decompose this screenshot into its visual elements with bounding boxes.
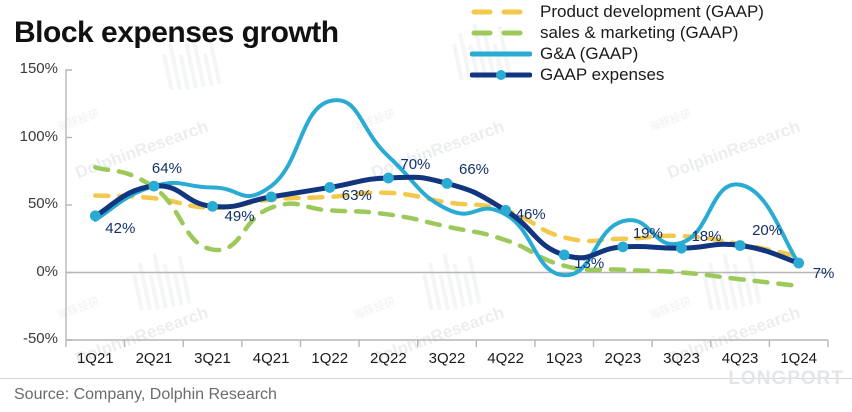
x-axis-tick-label: 4Q21: [239, 350, 303, 367]
data-point-label: 64%: [152, 160, 182, 177]
data-point-label: 49%: [225, 208, 255, 225]
y-axis-tick-label: 100%: [2, 128, 58, 145]
data-point-label: 46%: [516, 206, 546, 223]
data-point-label: 13%: [574, 255, 604, 272]
x-axis-tick-label: 3Q21: [181, 350, 245, 367]
x-axis-tick-label: 2Q21: [122, 350, 186, 367]
y-axis-tick-label: 50%: [2, 195, 58, 212]
x-axis-tick-label: 4Q23: [708, 350, 772, 367]
x-axis-tick-label: 4Q22: [474, 350, 538, 367]
x-axis-tick-label: 1Q24: [767, 350, 831, 367]
data-point-label: 19%: [633, 225, 663, 242]
chart-container: 海豚投研 DolphinResearch 海豚投研 DolphinResearc…: [0, 0, 852, 412]
x-axis-tick-label: 2Q23: [591, 350, 655, 367]
x-axis-tick-label: 3Q22: [415, 350, 479, 367]
x-axis-tick-label: 2Q22: [356, 350, 420, 367]
data-point-label: 66%: [459, 161, 489, 178]
x-axis-tick-label: 1Q23: [532, 350, 596, 367]
data-point-label: 63%: [342, 187, 372, 204]
x-axis-tick-label: 1Q22: [298, 350, 362, 367]
x-axis-tick-label: 1Q21: [63, 350, 127, 367]
source-note: Source: Company, Dolphin Research: [14, 386, 277, 404]
data-point-label: 18%: [691, 228, 721, 245]
data-point-label: 20%: [752, 222, 782, 239]
data-point-label: 70%: [400, 156, 430, 173]
footer: Source: Company, Dolphin Research: [0, 378, 852, 412]
y-axis-tick-label: 0%: [2, 263, 58, 280]
x-axis-tick-label: 3Q23: [649, 350, 713, 367]
data-point-label: 7%: [813, 265, 835, 282]
y-axis-tick-label: 150%: [2, 60, 58, 77]
y-axis-tick-label: -50%: [2, 330, 58, 347]
data-point-label: 42%: [105, 220, 135, 237]
